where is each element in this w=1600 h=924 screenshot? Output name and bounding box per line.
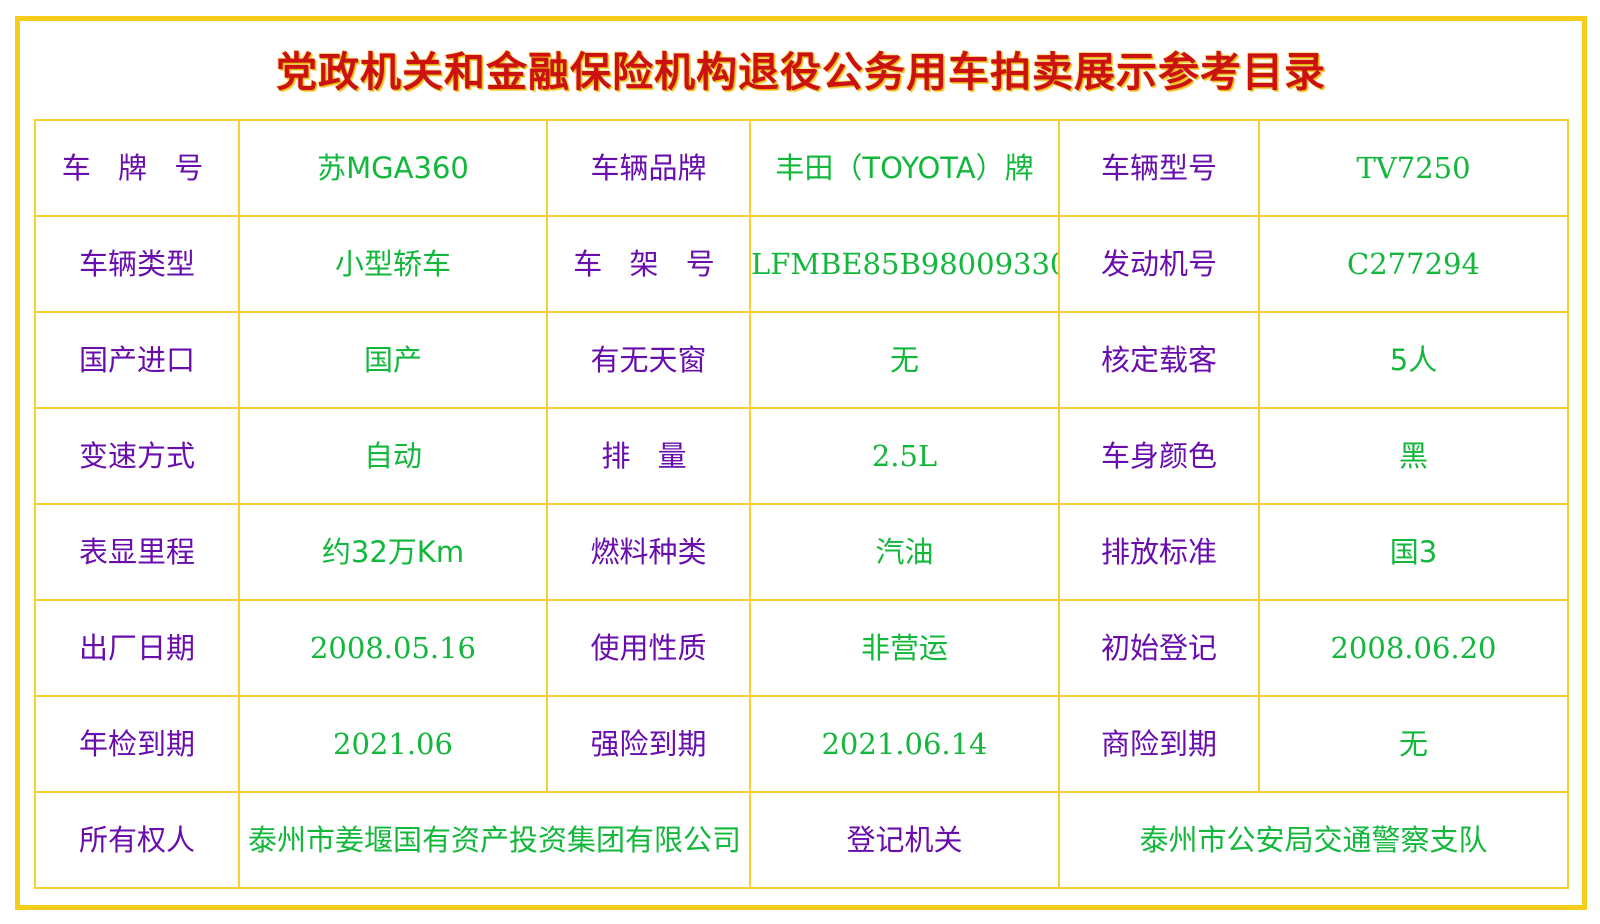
field-label-usage-nature: 使用性质 (547, 600, 750, 696)
field-label-emission-standard: 排放标准 (1059, 504, 1259, 600)
field-label-model: 车辆型号 (1059, 120, 1259, 216)
field-value-usage-nature: 非营运 (750, 600, 1059, 696)
table-row: 所有权人 泰州市姜堰国有资产投资集团有限公司 登记机关 泰州市公安局交通警察支队 (35, 792, 1568, 888)
table-row: 国产进口 国产 有无天窗 无 核定载客 5人 (35, 312, 1568, 408)
field-value-commercial-insurance-expiry: 无 (1259, 696, 1568, 792)
field-label-fuel-type: 燃料种类 (547, 504, 750, 600)
page-title: 党政机关和金融保险机构退役公务用车拍卖展示参考目录 (276, 38, 1326, 98)
field-label-engine-number: 发动机号 (1059, 216, 1259, 312)
field-value-body-color: 黑 (1259, 408, 1568, 504)
table-row: 车 牌 号 苏MGA360 车辆品牌 丰田（TOYOTA）牌 车辆型号 TV72… (35, 120, 1568, 216)
field-label-first-registration: 初始登记 (1059, 600, 1259, 696)
field-value-seating-capacity: 5人 (1259, 312, 1568, 408)
field-value-emission-standard: 国3 (1259, 504, 1568, 600)
document-page: 党政机关和金融保险机构退役公务用车拍卖展示参考目录 车 牌 号 苏MGA360 … (0, 0, 1600, 924)
field-value-inspection-expiry: 2021.06 (239, 696, 547, 792)
field-value-odometer: 约32万Km (239, 504, 547, 600)
field-label-registration-authority: 登记机关 (750, 792, 1059, 888)
field-label-sunroof: 有无天窗 (547, 312, 750, 408)
vehicle-spec-table: 车 牌 号 苏MGA360 车辆品牌 丰田（TOYOTA）牌 车辆型号 TV72… (34, 119, 1569, 889)
table-row: 出厂日期 2008.05.16 使用性质 非营运 初始登记 2008.06.20 (35, 600, 1568, 696)
field-label-inspection-expiry: 年检到期 (35, 696, 239, 792)
field-value-registration-authority: 泰州市公安局交通警察支队 (1059, 792, 1568, 888)
field-label-domestic-import: 国产进口 (35, 312, 239, 408)
field-value-vehicle-type: 小型轿车 (239, 216, 547, 312)
field-label-body-color: 车身颜色 (1059, 408, 1259, 504)
field-value-engine-number: C277294 (1259, 216, 1568, 312)
table-row: 车辆类型 小型轿车 车 架 号 LFMBE85B980093306 发动机号 C… (35, 216, 1568, 312)
field-label-compulsory-insurance-expiry: 强险到期 (547, 696, 750, 792)
field-label-brand: 车辆品牌 (547, 120, 750, 216)
field-value-owner: 泰州市姜堰国有资产投资集团有限公司 (239, 792, 750, 888)
field-value-sunroof: 无 (750, 312, 1059, 408)
field-value-displacement: 2.5L (750, 408, 1059, 504)
field-label-vin: 车 架 号 (547, 216, 750, 312)
field-value-plate-number: 苏MGA360 (239, 120, 547, 216)
field-value-brand: 丰田（TOYOTA）牌 (750, 120, 1059, 216)
field-value-first-registration: 2008.06.20 (1259, 600, 1568, 696)
spec-table-body: 车 牌 号 苏MGA360 车辆品牌 丰田（TOYOTA）牌 车辆型号 TV72… (35, 120, 1568, 888)
field-label-commercial-insurance-expiry: 商险到期 (1059, 696, 1259, 792)
field-label-manufacture-date: 出厂日期 (35, 600, 239, 696)
field-label-odometer: 表显里程 (35, 504, 239, 600)
field-label-seating-capacity: 核定载客 (1059, 312, 1259, 408)
field-value-fuel-type: 汽油 (750, 504, 1059, 600)
field-value-manufacture-date: 2008.05.16 (239, 600, 547, 696)
field-label-owner: 所有权人 (35, 792, 239, 888)
field-label-transmission: 变速方式 (35, 408, 239, 504)
field-label-displacement: 排 量 (547, 408, 750, 504)
field-label-plate-number: 车 牌 号 (35, 120, 239, 216)
table-row: 变速方式 自动 排 量 2.5L 车身颜色 黑 (35, 408, 1568, 504)
field-label-vehicle-type: 车辆类型 (35, 216, 239, 312)
title-area: 党政机关和金融保险机构退役公务用车拍卖展示参考目录 (20, 21, 1582, 114)
field-value-compulsory-insurance-expiry: 2021.06.14 (750, 696, 1059, 792)
table-row: 表显里程 约32万Km 燃料种类 汽油 排放标准 国3 (35, 504, 1568, 600)
field-value-vin: LFMBE85B980093306 (750, 216, 1059, 312)
table-row: 年检到期 2021.06 强险到期 2021.06.14 商险到期 无 (35, 696, 1568, 792)
field-value-domestic-import: 国产 (239, 312, 547, 408)
field-value-transmission: 自动 (239, 408, 547, 504)
field-value-model: TV7250 (1259, 120, 1568, 216)
